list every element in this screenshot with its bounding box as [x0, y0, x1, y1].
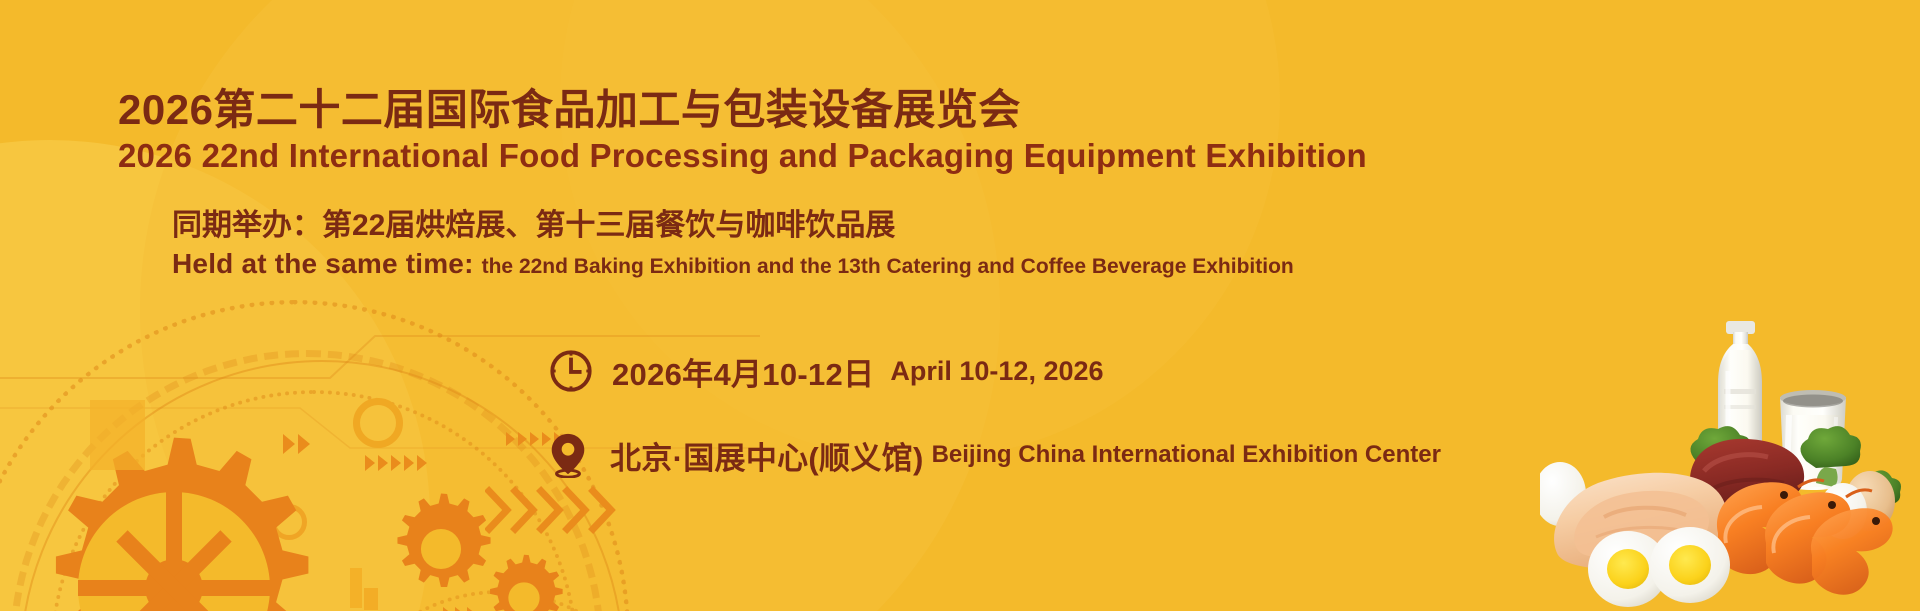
food-products-photo	[1540, 311, 1920, 611]
concurrent-events-en: Held at the same time: the 22nd Baking E…	[172, 248, 1294, 280]
event-venue-row: 北京·国展中心(顺义馆) Beijing China International…	[548, 432, 1441, 478]
event-date-en: April 10-12, 2026	[890, 356, 1103, 387]
event-date-row: 2026年4月10-12日 April 10-12, 2026	[548, 348, 1104, 394]
page-title-en: 2026 22nd International Food Processing …	[118, 137, 1367, 175]
page-title-cn: 2026第二十二届国际食品加工与包装设备展览会	[118, 76, 1021, 137]
exhibition-banner: 2026第二十二届国际食品加工与包装设备展览会 2026 22nd Intern…	[0, 0, 1920, 611]
clock-icon	[548, 348, 594, 394]
map-pin-icon	[548, 432, 588, 478]
event-venue-cn: 北京·国展中心(顺义馆)	[610, 433, 924, 478]
concurrent-events-cn: 同期举办：第22届烘焙展、第十三届餐饮与咖啡饮品展	[172, 200, 895, 244]
concurrent-events-en-lead: Held at the same time:	[172, 248, 474, 280]
event-venue-en: Beijing China International Exhibition C…	[932, 441, 1441, 469]
event-date-cn: 2026年4月10-12日	[612, 349, 874, 394]
concurrent-events-en-tail: the 22nd Baking Exhibition and the 13th …	[482, 255, 1294, 279]
boiled-egg-half	[1650, 527, 1730, 603]
